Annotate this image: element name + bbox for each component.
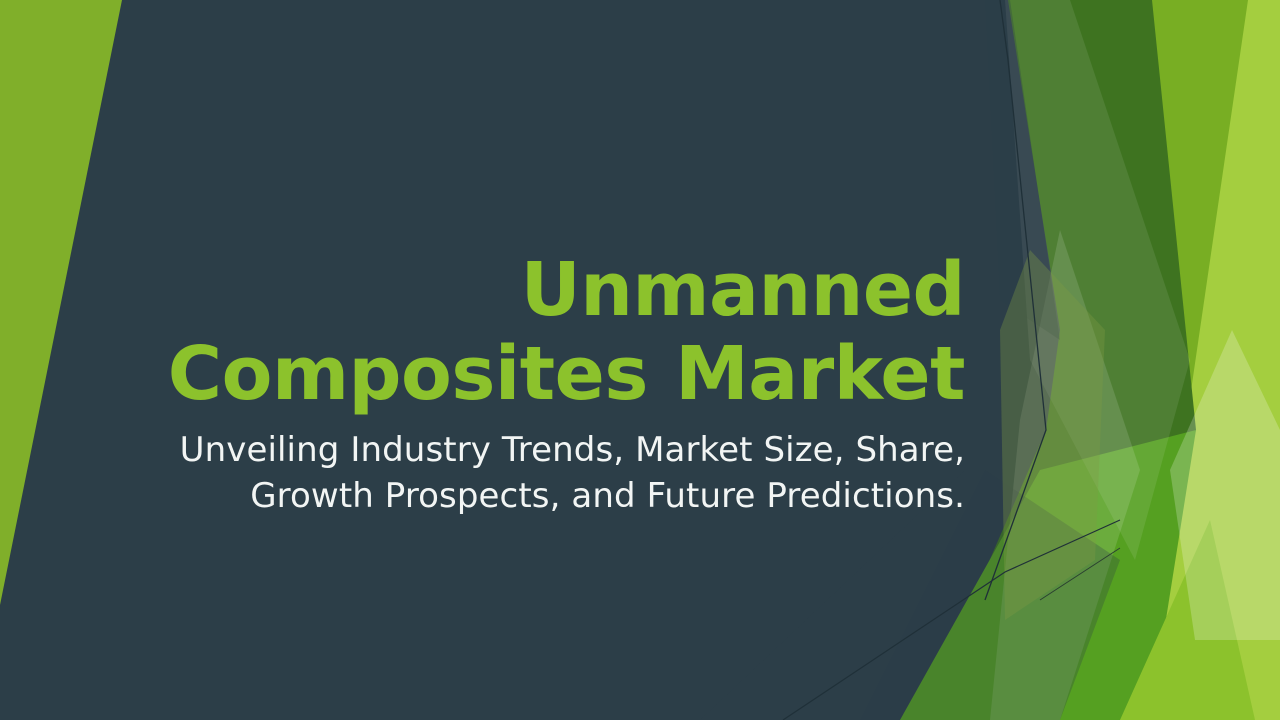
- slide-subtitle: Unveiling Industry Trends, Market Size, …: [150, 428, 965, 519]
- slide-text-layer: Unmanned Composites Market Unveiling Ind…: [0, 0, 1000, 720]
- page-title: Unmanned Composites Market: [100, 248, 965, 417]
- subtitle-placeholder: Unveiling Industry Trends, Market Size, …: [150, 428, 965, 519]
- title-slide: Unmanned Composites Market Unveiling Ind…: [0, 0, 1280, 720]
- title-placeholder: Unmanned Composites Market: [100, 248, 965, 417]
